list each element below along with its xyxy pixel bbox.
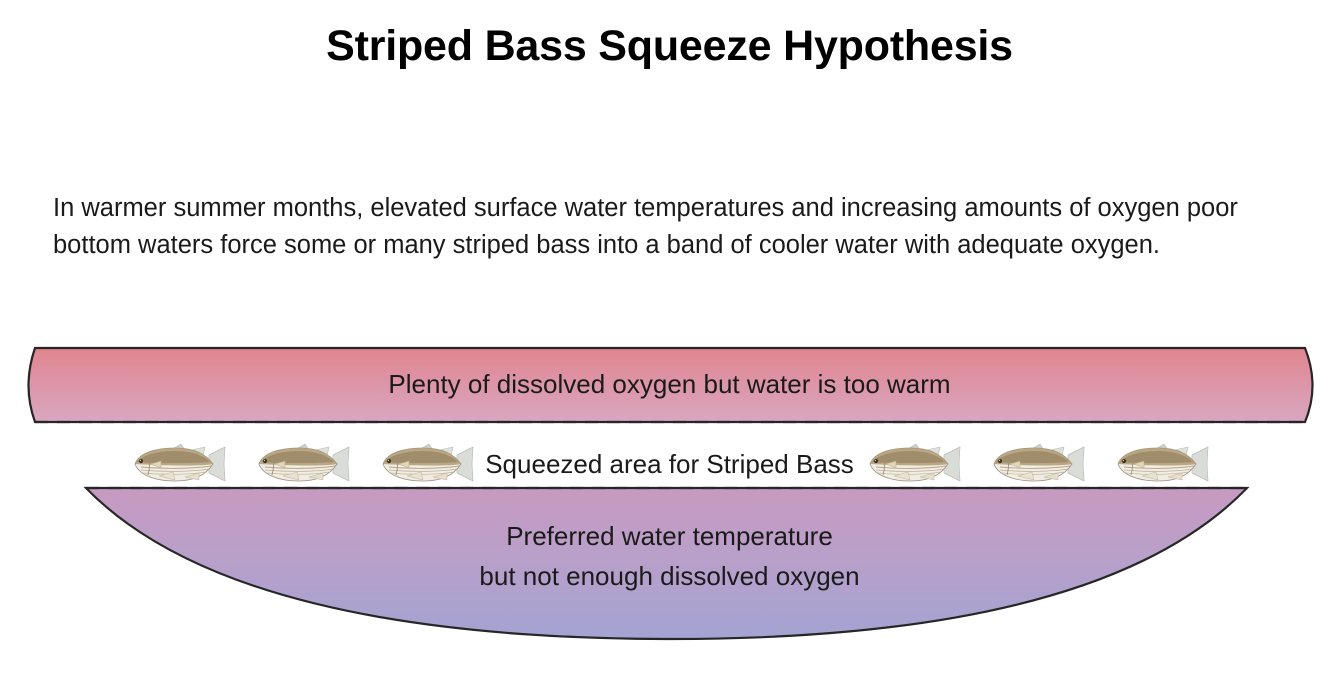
striped-bass-fish-icon [253,442,351,486]
squeeze-row: Squeezed area for Striped Bass [0,442,1339,486]
top-band-label: Plenty of dissolved oxygen but water is … [0,368,1339,401]
striped-bass-fish-icon [988,442,1086,486]
bottom-band-label: Preferred water temperature but not enou… [0,516,1339,596]
intro-paragraph: In warmer summer months, elevated surfac… [53,190,1293,264]
fish-group-right [864,442,1210,486]
striped-bass-fish-icon [377,442,475,486]
squeeze-diagram: Plenty of dissolved oxygen but water is … [0,330,1339,660]
striped-bass-fish-icon [1112,442,1210,486]
middle-band-label: Squeezed area for Striped Bass [475,448,864,481]
page-title: Striped Bass Squeeze Hypothesis [0,22,1339,71]
bottom-band-label-line2: but not enough dissolved oxygen [0,556,1339,596]
striped-bass-fish-icon [864,442,962,486]
striped-bass-fish-icon [129,442,227,486]
bottom-band-label-line1: Preferred water temperature [506,521,833,551]
fish-group-left [129,442,475,486]
